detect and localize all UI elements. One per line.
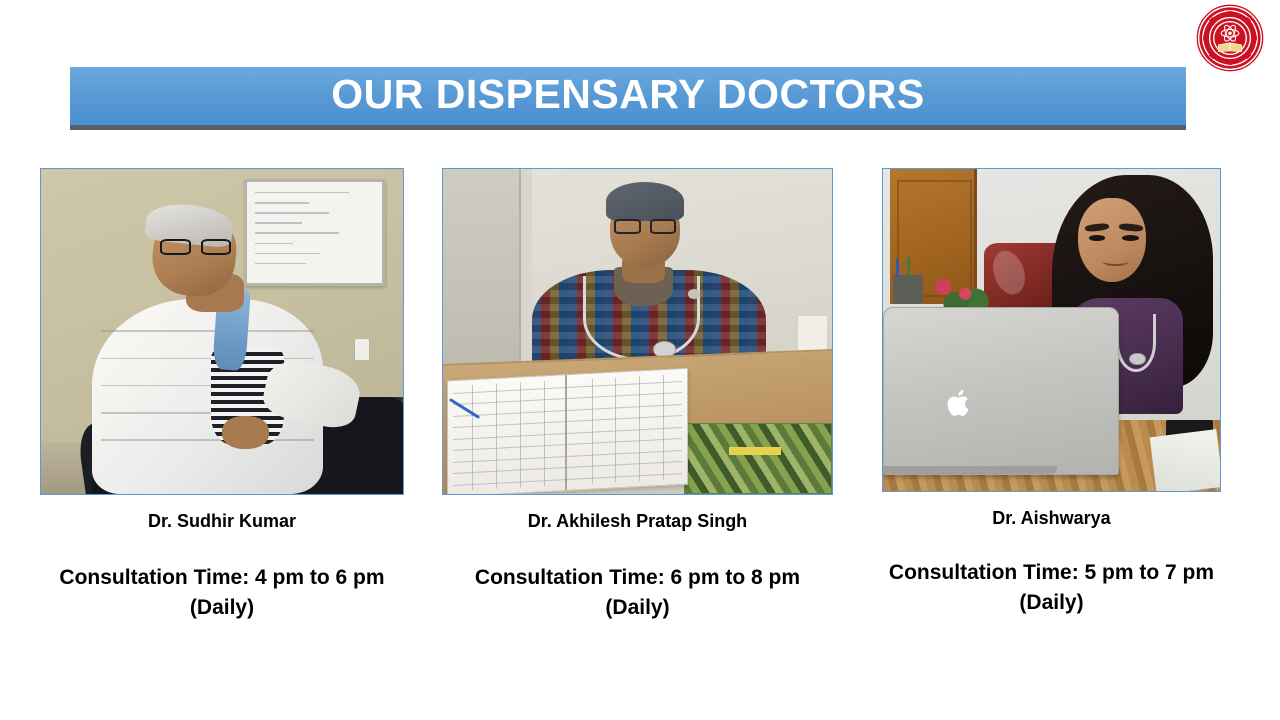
doctor-card-aishwarya: Dr. Aishwarya Consultation Time: 5 pm to… [882,168,1221,618]
doctor-consultation: Consultation Time: 5 pm to 7 pm (Daily) [882,558,1221,619]
paper-sheet [1149,429,1221,492]
institute-logo [1192,4,1268,72]
doctors-row: Dr. Sudhir Kumar Consultation Time: 4 pm… [0,168,1280,648]
patient-register-book [447,367,688,495]
slide-title-banner: OUR DISPENSARY DOCTORS [70,67,1186,130]
doctor-photo-frame [882,168,1221,492]
doctor-caption: Dr. Akhilesh Pratap Singh Consultation T… [442,511,833,623]
doctor-name: Dr. Sudhir Kumar [40,511,404,533]
slide-root: OUR DISPENSARY DOCTORS [0,0,1280,720]
doctor-photo-aishwarya [883,169,1220,491]
doctor-caption: Dr. Aishwarya Consultation Time: 5 pm to… [882,508,1221,618]
eyeglasses-icon [160,239,232,255]
woolen-beanie [606,182,684,221]
desk-mat [684,423,832,495]
smile [1102,256,1129,266]
wall-panel-edge [521,169,533,377]
doctor-card-sudhir-kumar: Dr. Sudhir Kumar Consultation Time: 4 pm… [40,168,404,623]
consultation-frequency: (Daily) [190,596,254,619]
stethoscope-chestpiece-icon [1129,353,1146,366]
whiteboard [244,179,385,286]
wall-panel [443,169,521,377]
pen-holder [893,275,923,304]
doctor-hand [222,416,269,449]
doctor-card-akhilesh-pratap-singh: Dr. Akhilesh Pratap Singh Consultation T… [442,168,833,623]
silver-laptop [883,307,1119,474]
wall-socket [354,338,370,361]
eye-left [1089,235,1106,241]
consultation-time: Consultation Time: 5 pm to 7 pm [889,561,1214,584]
consultation-time: Consultation Time: 6 pm to 8 pm [475,566,800,589]
bit-mesra-logo-icon [1192,4,1268,72]
eyeglasses-icon [614,219,676,233]
consultation-frequency: (Daily) [605,596,669,619]
doctor-photo-akhilesh-pratap-singh [443,169,832,494]
doctor-consultation: Consultation Time: 6 pm to 8 pm (Daily) [442,563,833,624]
consultation-time: Consultation Time: 4 pm to 6 pm [59,566,384,589]
doctor-consultation: Consultation Time: 4 pm to 6 pm (Daily) [40,563,404,624]
doctor-photo-frame [442,168,833,495]
lapel-badge [688,289,700,299]
doctor-caption: Dr. Sudhir Kumar Consultation Time: 4 pm… [40,511,404,623]
doctor-photo-sudhir-kumar [41,169,403,494]
doctor-name: Dr. Aishwarya [882,508,1221,530]
stethoscope-icon [583,276,700,361]
doctor-name: Dr. Akhilesh Pratap Singh [442,511,833,533]
page-title: OUR DISPENSARY DOCTORS [331,74,924,115]
laptop-base [882,466,1057,474]
eye-right [1122,235,1139,241]
doctor-photo-frame [40,168,404,495]
consultation-frequency: (Daily) [1019,591,1083,614]
apple-logo-icon [947,388,973,418]
